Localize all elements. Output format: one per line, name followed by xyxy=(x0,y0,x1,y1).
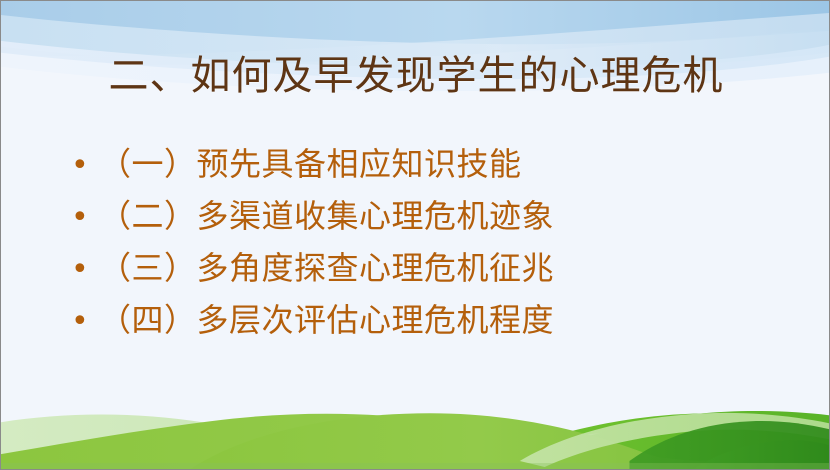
bullet-item-1: • （一）预先具备相应知识技能 xyxy=(71,143,771,195)
slide-title: 二、如何及早发现学生的心理危机 xyxy=(1,55,830,97)
bullet-marker-icon: • xyxy=(71,146,99,186)
bullet-item-1-label: （一）预先具备相应知识技能 xyxy=(99,143,771,185)
bullet-item-3: • （三）多角度探查心理危机征兆 xyxy=(71,247,771,299)
presentation-slide: 二、如何及早发现学生的心理危机 • （一）预先具备相应知识技能 • （二）多渠道… xyxy=(0,0,830,470)
bullet-marker-icon: • xyxy=(71,198,99,238)
bullet-item-2: • （二）多渠道收集心理危机迹象 xyxy=(71,195,771,247)
bullet-item-4-label: （四）多层次评估心理危机程度 xyxy=(99,299,771,341)
bullet-item-2-label: （二）多渠道收集心理危机迹象 xyxy=(99,195,771,237)
bullet-marker-icon: • xyxy=(71,302,99,342)
bullet-marker-icon: • xyxy=(71,250,99,290)
bullet-item-4: • （四）多层次评估心理危机程度 xyxy=(71,299,771,351)
bullet-list: • （一）预先具备相应知识技能 • （二）多渠道收集心理危机迹象 • （三）多角… xyxy=(71,143,771,351)
bullet-item-3-label: （三）多角度探查心理危机征兆 xyxy=(99,247,771,289)
